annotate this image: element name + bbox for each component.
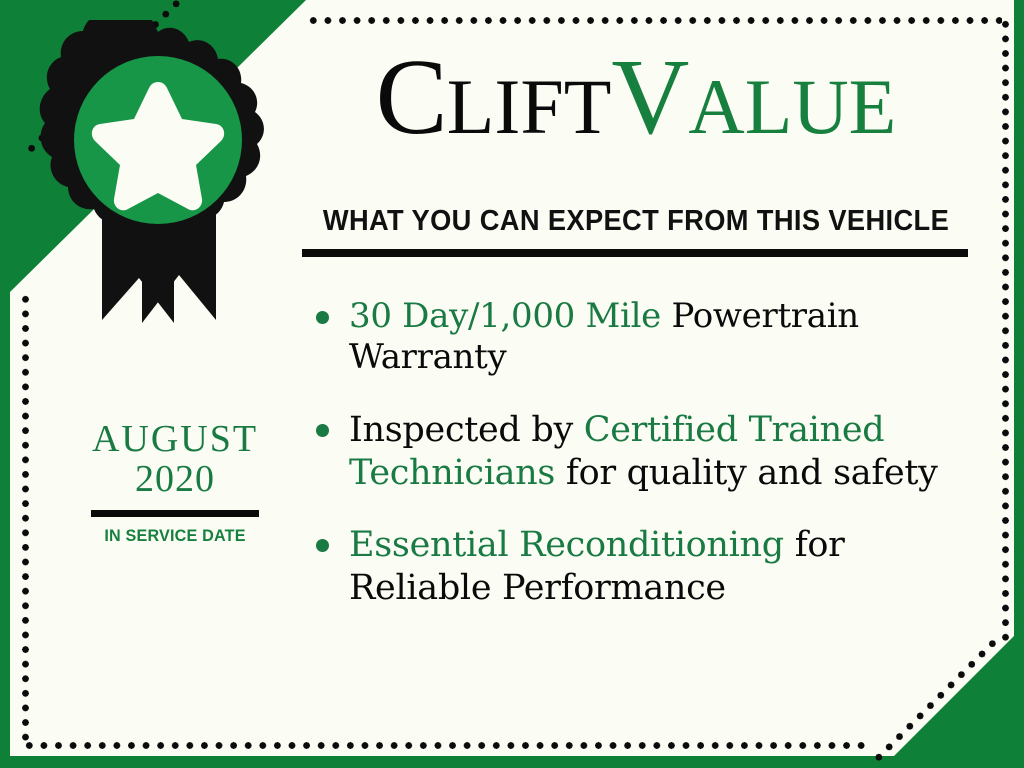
in-service-caption: IN SERVICE DATE — [68, 526, 283, 546]
list-item-text: Essential Reconditioning for Reliable Pe… — [349, 524, 984, 609]
bullet-dot-icon — [316, 424, 329, 437]
clift-value-vehicle-badge: CLIFTVALUE WHAT YOU CAN EXPECT FROM THIS… — [0, 0, 1024, 768]
logo-value-initial: V — [611, 38, 688, 157]
list-item-text: Inspected by Certified Trained Technicia… — [349, 409, 984, 494]
subtitle-heading: WHAT YOU CAN EXPECT FROM THIS VEHICLE — [320, 205, 952, 238]
list-item: 30 Day/1,000 Mile Powertrain Warranty — [304, 296, 984, 379]
in-service-month: AUGUST — [62, 420, 288, 460]
logo-clift-initial: C — [376, 38, 447, 157]
green-edge-bottom — [0, 756, 1024, 768]
list-item: Essential Reconditioning for Reliable Pe… — [304, 524, 984, 609]
in-service-divider-rule — [91, 510, 259, 517]
list-item: Inspected by Certified Trained Technicia… — [304, 409, 984, 494]
in-service-year: 2020 — [62, 460, 288, 500]
expectations-list: 30 Day/1,000 Mile Powertrain Warranty In… — [304, 296, 984, 610]
bullet-dot-icon — [316, 311, 329, 324]
brand-wordmark: CLIFTVALUE — [300, 44, 972, 152]
subtitle-divider-rule — [302, 249, 968, 257]
logo-clift-rest: LIFT — [447, 63, 612, 150]
award-rosette-star-icon — [38, 20, 278, 325]
logo-value-rest: ALUE — [688, 63, 896, 150]
list-item-text: 30 Day/1,000 Mile Powertrain Warranty — [349, 296, 984, 379]
in-service-date-block: AUGUST 2020 IN SERVICE DATE — [62, 420, 288, 546]
bullet-dot-icon — [316, 539, 329, 552]
green-edge-left — [0, 0, 10, 768]
green-edge-right — [1014, 0, 1024, 768]
